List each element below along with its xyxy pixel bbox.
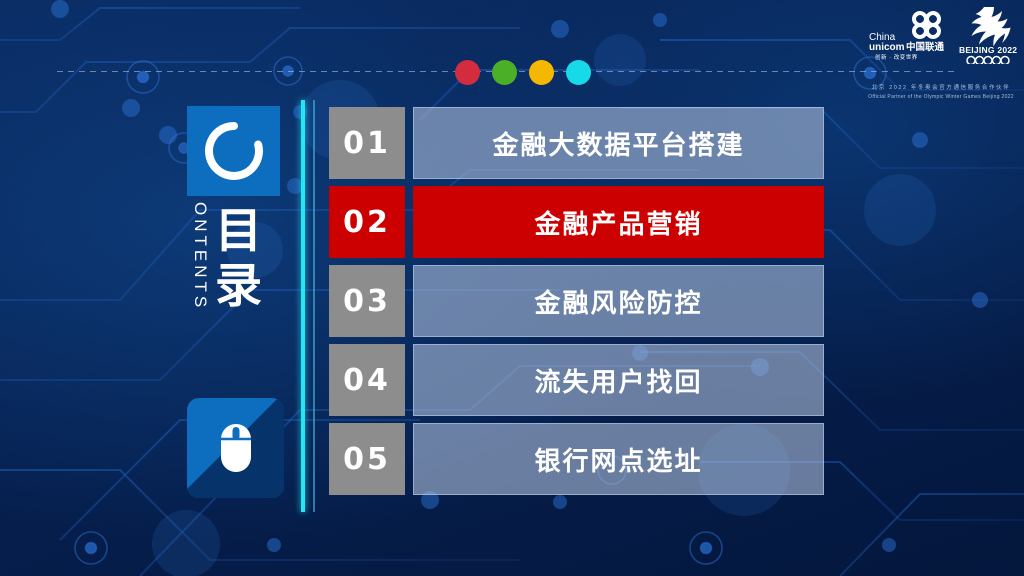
menu-title-01[interactable]: 金融大数据平台搭建 — [413, 107, 824, 179]
mouse-icon — [215, 420, 257, 476]
menu-row-04[interactable]: 04 流失用户找回 — [329, 344, 824, 416]
branding-caption-en: Official Partner of the Olympic Winter G… — [862, 93, 1020, 101]
menu-number-02: 02 — [329, 186, 405, 258]
svg-text:BEIJING 2022: BEIJING 2022 — [959, 45, 1017, 55]
contents-sidebar: ONTENTS 目 录 — [187, 106, 291, 502]
menu-title-04[interactable]: 流失用户找回 — [413, 344, 824, 416]
menu-row-05[interactable]: 05 银行网点选址 — [329, 423, 824, 495]
menu-number-01: 01 — [329, 107, 405, 179]
svg-text:China: China — [869, 32, 896, 43]
menu-row-03[interactable]: 03 金融风险防控 — [329, 265, 824, 337]
dot-red — [455, 60, 480, 85]
mouse-icon-tile — [187, 398, 284, 498]
menu-number-03: 03 — [329, 265, 405, 337]
branding-block: China unicom 中国联通 创新 · 改变世界 BEIJING 2022… — [850, 0, 1024, 105]
branding-caption-cn: 北京 2022 年冬奥会官方通信服务合作伙伴 — [862, 84, 1020, 93]
dot-yellow — [529, 60, 554, 85]
menu-row-02[interactable]: 02 金融产品营销 — [329, 186, 824, 258]
cyan-divider-secondary — [313, 100, 315, 512]
menu-title-05[interactable]: 银行网点选址 — [413, 423, 824, 495]
svg-text:unicom: unicom — [869, 42, 905, 53]
dot-cyan — [566, 60, 591, 85]
china-unicom-logo: China unicom 中国联通 创新 · 改变世界 — [868, 8, 952, 63]
menu-number-04: 04 — [329, 344, 405, 416]
menu-row-01[interactable]: 01 金融大数据平台搭建 — [329, 107, 824, 179]
contents-menu-list: 01 金融大数据平台搭建 02 金融产品营销 03 金融风险防控 04 流失用户… — [329, 107, 824, 495]
slide-root: China unicom 中国联通 创新 · 改变世界 BEIJING 2022… — [0, 0, 1024, 576]
svg-text:中国联通: 中国联通 — [906, 41, 945, 53]
contents-title-cn-line2: 录 — [215, 259, 263, 314]
beijing-2022-olympics-logo: BEIJING 2022 — [956, 4, 1018, 64]
branding-caption: 北京 2022 年冬奥会官方通信服务合作伙伴 Official Partner … — [862, 84, 1020, 101]
menu-title-02[interactable]: 金融产品营销 — [413, 186, 824, 258]
menu-number-05: 05 — [329, 423, 405, 495]
contents-logo-tile — [187, 106, 280, 196]
contents-label-en: ONTENTS — [192, 202, 209, 311]
cyan-divider-primary — [301, 100, 305, 512]
contents-title-cn: 目 录 — [215, 204, 263, 315]
svg-text:创新 · 改变世界: 创新 · 改变世界 — [875, 53, 918, 61]
menu-title-03[interactable]: 金融风险防控 — [413, 265, 824, 337]
decorative-dot-group — [455, 60, 591, 85]
dot-green — [492, 60, 517, 85]
contents-title-cn-line1: 目 — [215, 204, 263, 259]
contents-ring-icon — [203, 121, 265, 181]
